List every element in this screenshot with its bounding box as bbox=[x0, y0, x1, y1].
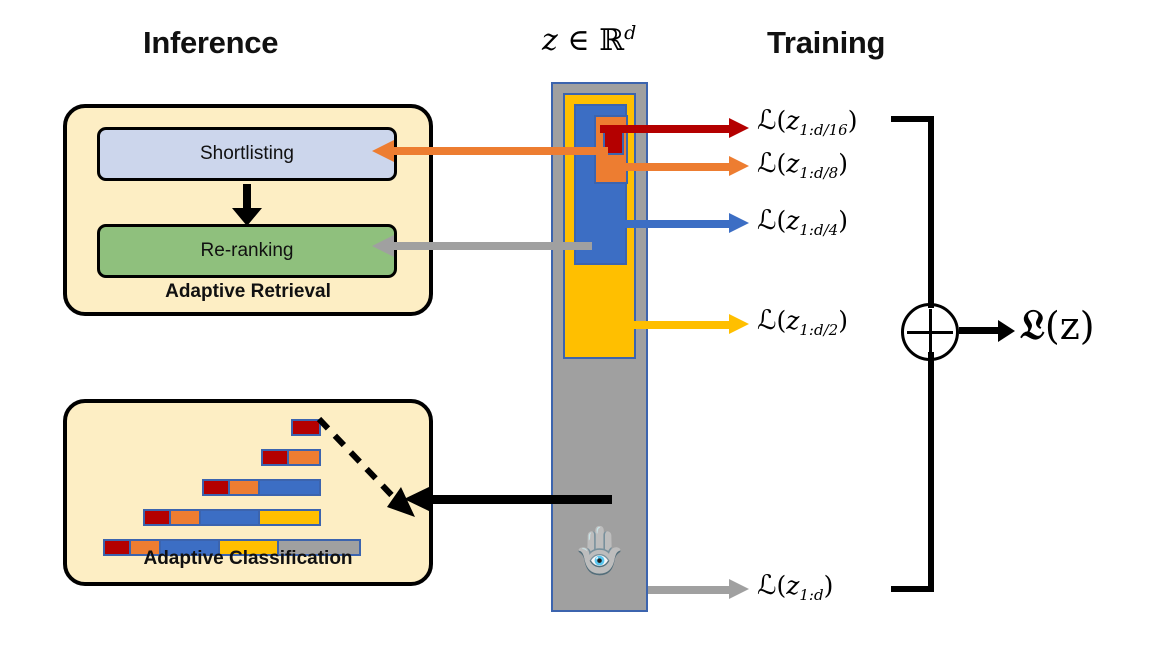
adaptive-retrieval-caption: Adaptive Retrieval bbox=[67, 281, 429, 303]
to-classification-arrow-head bbox=[404, 486, 431, 512]
loss-label-d4: ℒ(z1:d/4) bbox=[757, 205, 848, 239]
loss-d4-arrow-head bbox=[729, 213, 749, 233]
granularity-bar-1-segment-0 bbox=[263, 451, 289, 464]
aggregation-bracket-bottom bbox=[891, 586, 934, 592]
total-loss-symbol: 𝔏 bbox=[1020, 300, 1045, 349]
loss-d4-arrow-shaft bbox=[624, 220, 731, 228]
granularity-bar-3-segment-1 bbox=[171, 511, 201, 524]
loss-label-d8: ℒ(z1:d/8) bbox=[757, 148, 848, 182]
to-reranking-arrow-head bbox=[372, 235, 394, 257]
granularity-bar-2-segment-2 bbox=[260, 481, 319, 494]
adaptive-classification-caption: Adaptive Classification bbox=[67, 548, 429, 570]
matryoshka-doll-icon: 🪬 bbox=[551, 528, 648, 573]
total-loss-label: 𝔏(z) bbox=[1020, 300, 1095, 350]
inference-title: Inference bbox=[143, 25, 278, 61]
to-reranking-arrow-shaft bbox=[392, 242, 592, 250]
element-of-symbol: ∈ bbox=[567, 23, 589, 58]
loss-label-d2: ℒ(z1:d/2) bbox=[757, 305, 848, 339]
adaptive-retrieval-panel[interactable]: Shortlisting Re-ranking Adaptive Retriev… bbox=[63, 104, 433, 316]
loss-symbol-d4: ℒ bbox=[757, 205, 776, 236]
loss-subscript-d: 1:d bbox=[799, 586, 823, 604]
shortlisting-box[interactable]: Shortlisting bbox=[97, 127, 397, 181]
loss-symbol-d8: ℒ bbox=[757, 148, 776, 179]
granularity-bar-3-segment-2 bbox=[201, 511, 260, 524]
latent-vector-label: z ∈ ℝd bbox=[542, 22, 636, 58]
loss-d8-arrow-shaft bbox=[600, 163, 731, 171]
granularity-bar-3-segment-3 bbox=[260, 511, 319, 524]
granularity-bar-3-segment-0 bbox=[145, 511, 171, 524]
total-loss-arrow-head bbox=[998, 320, 1015, 342]
training-title: Training bbox=[767, 25, 885, 61]
oplus-sum-operator-icon bbox=[901, 303, 959, 361]
to-classification-arrow-shaft bbox=[430, 495, 612, 504]
loss-d16-arrow-head bbox=[729, 118, 749, 138]
loss-subscript-d16: 1:d/16 bbox=[799, 121, 847, 139]
latent-dimension-exponent: d bbox=[624, 22, 636, 44]
aggregation-bracket-upper-stroke bbox=[928, 116, 934, 308]
to-shortlisting-arrow-shaft bbox=[392, 147, 608, 155]
loss-d-arrow-shaft bbox=[648, 586, 731, 594]
dashed-granularity-arrow bbox=[315, 413, 425, 533]
latent-z-symbol: z bbox=[542, 23, 558, 58]
reranking-label: Re-ranking bbox=[201, 240, 294, 262]
loss-symbol-d2: ℒ bbox=[757, 305, 776, 336]
loss-subscript-d8: 1:d/8 bbox=[799, 164, 838, 182]
total-loss-argument: (z) bbox=[1045, 304, 1095, 348]
total-loss-arrow-shaft bbox=[959, 327, 1003, 334]
loss-d2-arrow-shaft bbox=[630, 321, 731, 329]
shortlisting-label: Shortlisting bbox=[200, 143, 294, 165]
granularity-bar-1 bbox=[261, 449, 321, 466]
loss-subscript-d4: 1:d/4 bbox=[799, 221, 838, 239]
real-numbers-symbol: ℝ bbox=[599, 23, 624, 58]
loss-label-d16: ℒ(z1:d/16) bbox=[757, 105, 858, 139]
loss-d-arrow-head bbox=[729, 579, 749, 599]
loss-label-d: ℒ(z1:d) bbox=[757, 570, 833, 604]
reranking-box[interactable]: Re-ranking bbox=[97, 224, 397, 278]
loss-d2-arrow-head bbox=[729, 314, 749, 334]
loss-symbol-d: ℒ bbox=[757, 570, 776, 601]
to-shortlisting-arrow-head bbox=[372, 140, 394, 162]
granularity-bar-2-segment-1 bbox=[230, 481, 260, 494]
granularity-bar-2-segment-0 bbox=[204, 481, 230, 494]
loss-symbol-d16: ℒ bbox=[757, 105, 776, 136]
loss-d8-arrow-head bbox=[729, 156, 749, 176]
loss-d16-arrow-shaft bbox=[600, 125, 731, 133]
granularity-bar-2 bbox=[202, 479, 321, 496]
adaptive-classification-panel[interactable]: Adaptive Classification bbox=[63, 399, 433, 586]
aggregation-bracket-lower-stroke bbox=[928, 352, 934, 592]
loss-subscript-d2: 1:d/2 bbox=[799, 321, 838, 339]
granularity-bar-3 bbox=[143, 509, 321, 526]
